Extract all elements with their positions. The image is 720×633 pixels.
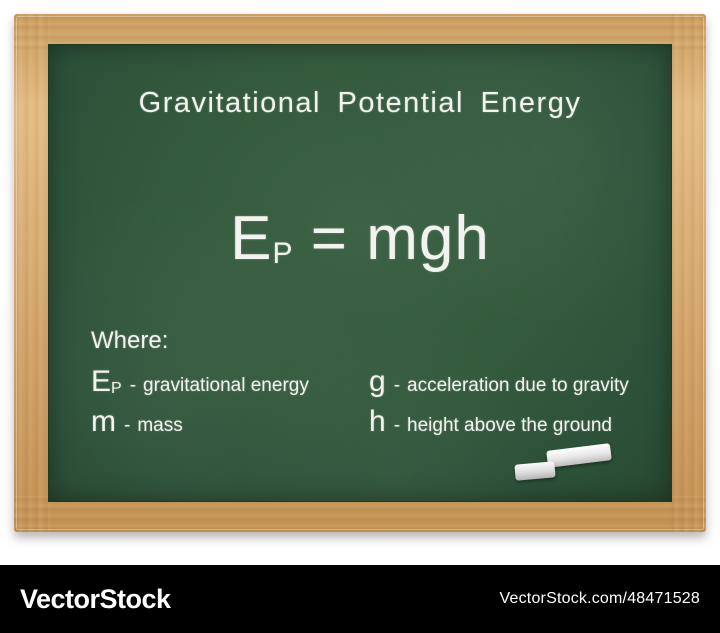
frame-rail-left (14, 14, 50, 532)
legend-symbol: EP (91, 367, 122, 397)
legend-symbol: g (369, 367, 386, 397)
chalk-stub-icon (514, 461, 555, 480)
legend-row: m - mass h - height above the ground (91, 407, 647, 437)
wooden-frame: Gravitational Potential Energy EP = mgh … (14, 14, 706, 532)
legend-description: mass (137, 415, 182, 437)
legend-dash: - (394, 375, 400, 397)
formula-expression: EP = mgh (49, 203, 671, 274)
legend-description: height above the ground (407, 415, 612, 437)
legend-dash: - (130, 375, 136, 397)
formula-right-side: = mgh (311, 204, 490, 273)
where-label: Where: (91, 327, 168, 355)
legend-list: EP - gravitational energy g - accelerati… (91, 367, 647, 447)
illustration-canvas: Gravitational Potential Energy EP = mgh … (0, 0, 720, 633)
watermark-url: VectorStock.com/48471528 (500, 590, 700, 608)
legend-item-ep: EP - gravitational energy (91, 367, 369, 397)
legend-row: EP - gravitational energy g - accelerati… (91, 367, 647, 397)
formula-symbol-ep: E (230, 204, 272, 273)
frame-rail-right (670, 14, 706, 532)
legend-description: acceleration due to gravity (407, 375, 629, 397)
board-title: Gravitational Potential Energy (49, 87, 671, 120)
legend-description: gravitational energy (143, 375, 309, 397)
legend-symbol: m (91, 407, 116, 437)
legend-dash: - (124, 415, 130, 437)
legend-dash: - (394, 415, 400, 437)
chalkboard-surface: Gravitational Potential Energy EP = mgh … (48, 44, 672, 502)
formula-subscript-p: P (273, 237, 293, 270)
legend-item-h: h - height above the ground (369, 407, 647, 437)
legend-symbol: h (369, 407, 386, 437)
legend-item-m: m - mass (91, 407, 369, 437)
watermark-bar: VectorStock VectorStock.com/48471528 (0, 565, 720, 633)
legend-item-g: g - acceleration due to gravity (369, 367, 647, 397)
brand-logo: VectorStock (20, 584, 171, 615)
chalkboard-illustration: Gravitational Potential Energy EP = mgh … (0, 0, 720, 565)
